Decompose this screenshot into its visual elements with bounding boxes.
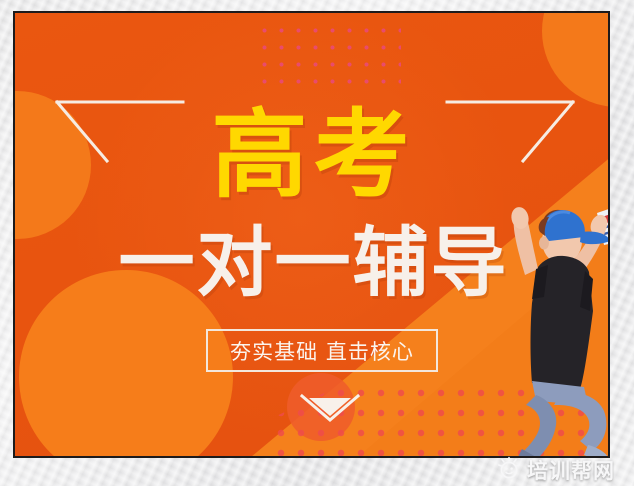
chevron-down-icon <box>299 391 361 430</box>
dot-grid-icon-top <box>253 19 401 85</box>
watermark: 培训帮网 <box>497 456 615 484</box>
sun-smiley-icon <box>497 456 521 485</box>
page-backdrop: 高考 一对一辅导 夯实基础 直击核心 <box>0 0 634 486</box>
headline-primary: 高考 <box>15 107 608 203</box>
circle-decoration-top-right <box>542 13 608 107</box>
watermark-text: 培训帮网 <box>527 455 615 485</box>
promo-banner: 高考 一对一辅导 夯实基础 直击核心 <box>15 13 608 456</box>
headline-secondary: 一对一辅导 <box>15 225 608 301</box>
banner-frame: 高考 一对一辅导 夯实基础 直击核心 <box>13 11 610 458</box>
subtitle-box: 夯实基础 直击核心 <box>206 329 438 372</box>
subtitle-text: 夯实基础 直击核心 <box>230 336 414 366</box>
